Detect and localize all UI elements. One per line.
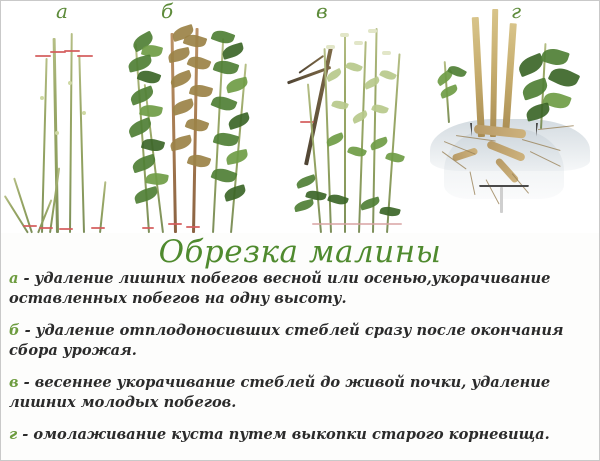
leaf (141, 136, 165, 154)
old-stump (472, 17, 485, 137)
young-leaf (351, 110, 369, 124)
illustration-band: а (1, 1, 600, 233)
young-leaf (369, 136, 389, 150)
caption-marker-v: в (9, 374, 19, 391)
leaf (225, 77, 249, 94)
cane (78, 55, 85, 233)
cut-tip (382, 51, 391, 55)
caption-text-g: - омолаживание куста путем выкопки старо… (17, 426, 550, 443)
young-leaf (363, 76, 381, 89)
cut-tip (340, 33, 349, 37)
panel-v-spring-shoots: в (276, 1, 416, 233)
young-leaf (345, 60, 363, 74)
caption-text-b: - удаление отплодоносивших стеблей сразу… (9, 322, 564, 359)
infographic-page: а (0, 0, 600, 461)
panel-g-rootstock: г (426, 1, 591, 233)
leaf (548, 64, 581, 92)
cut-tip (354, 41, 363, 45)
extra-shoot-leaf (359, 196, 381, 210)
panel-a-bare-canes: а (11, 1, 131, 233)
young-leaf (379, 68, 397, 82)
extra-shoot-leaf (293, 199, 315, 213)
panel-label-g: г (511, 0, 521, 23)
leaf (225, 149, 249, 165)
leaf (145, 171, 169, 187)
ground-line (312, 223, 402, 225)
cut-mark-base (59, 228, 73, 230)
cut-mark-base (186, 226, 200, 228)
node-bud (55, 131, 59, 135)
leaf (210, 93, 237, 114)
node-bud (82, 111, 86, 115)
spade-outline-icon (470, 123, 538, 187)
cut-mark-top (77, 55, 93, 57)
caption-a: а - удаление лишних побегов весной или о… (9, 269, 591, 309)
page-title: Обрезка малины (1, 233, 599, 271)
young-leaf (331, 99, 349, 112)
node-bud (40, 96, 44, 100)
caption-marker-b: б (9, 322, 20, 339)
cut-tip (326, 45, 335, 49)
caption-b: б - удаление отплодоносивших стеблей сра… (9, 321, 591, 361)
cut-mark-top (35, 55, 51, 57)
leaf-spent (187, 53, 212, 72)
cut-mark-base (39, 227, 53, 229)
caption-text-a: - удаление лишних побегов весной или осе… (9, 270, 550, 307)
panel-label-b: б (161, 0, 173, 23)
cane-spent (171, 33, 177, 233)
leaf-spent (187, 152, 212, 170)
cut-mark-base (168, 223, 182, 225)
leaf (223, 184, 247, 202)
extra-shoot-leaf (295, 174, 317, 189)
cut-tip (368, 29, 377, 33)
caption-marker-g: г (9, 426, 17, 443)
leaf (139, 103, 163, 119)
caption-text-v: - весеннее укорачивание стеблей до живой… (9, 374, 550, 411)
spade-handle (500, 187, 503, 213)
caption-g: г - омолаживание куста путем выкопки ста… (9, 425, 591, 445)
panel-label-a: а (56, 0, 68, 23)
leaf-spent (185, 116, 210, 135)
caption-v: в - весеннее укорачивание стеблей до жив… (9, 373, 591, 413)
leaf-spent (189, 82, 213, 100)
extra-shoot-leaf (379, 205, 401, 219)
cut-mark-base (91, 227, 105, 229)
cut-mark-base (23, 225, 37, 227)
caption-list: а - удаление лишних побегов весной или о… (9, 269, 591, 445)
cane (69, 33, 73, 233)
panel-b-leafy-bush: б (126, 1, 261, 233)
young-leaf (385, 150, 405, 165)
node-bud (68, 81, 72, 85)
leaf (129, 85, 156, 105)
cut-mark-base (142, 227, 154, 229)
cane-extra-shoot (99, 181, 106, 233)
cut-mark-top (64, 50, 80, 52)
leaf (213, 58, 240, 78)
leaf (221, 42, 245, 60)
leaf (439, 84, 459, 99)
panel-label-v: в (316, 0, 328, 23)
young-leaf (347, 144, 367, 159)
leaf (525, 102, 552, 121)
old-stump (490, 9, 498, 137)
leaf (137, 68, 162, 87)
